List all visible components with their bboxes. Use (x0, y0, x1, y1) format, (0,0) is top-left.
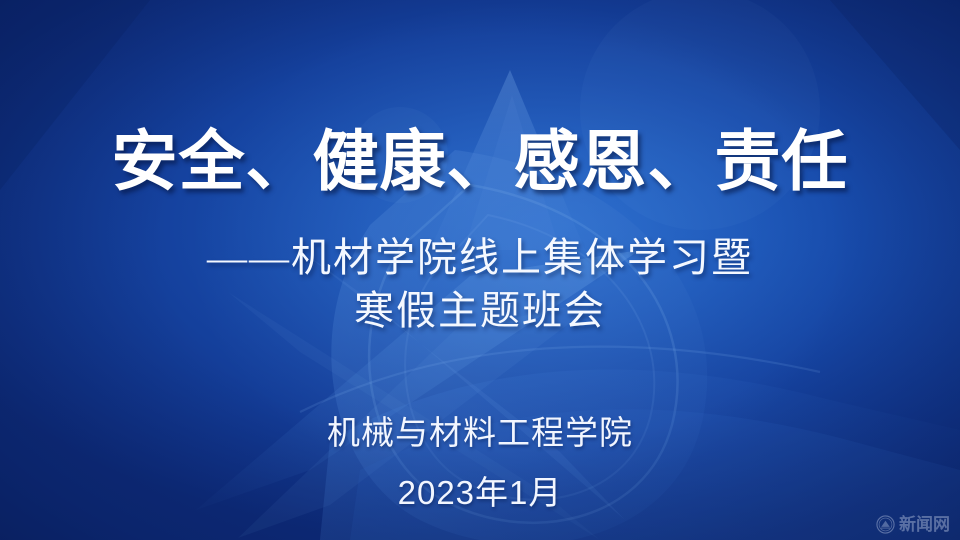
slide-subtitle-line-1: ——机材学院线上集体学习暨 (0, 232, 960, 285)
watermark: 新闻网 (876, 515, 950, 534)
slide-content: 安全、健康、感恩、责任 ——机材学院线上集体学习暨 寒假主题班会 机械与材料工程… (0, 0, 960, 540)
slide-date: 2023年1月 (0, 466, 960, 514)
slide-subtitle: ——机材学院线上集体学习暨 寒假主题班会 (0, 232, 960, 338)
circular-emblem-icon (876, 515, 895, 534)
slide-main-title: 安全、健康、感恩、责任 (0, 128, 960, 194)
presentation-slide: 安全、健康、感恩、责任 ——机材学院线上集体学习暨 寒假主题班会 机械与材料工程… (0, 0, 960, 540)
slide-subtitle-line-2: 寒假主题班会 (0, 285, 960, 338)
watermark-label: 新闻网 (899, 516, 950, 533)
slide-organization: 机械与材料工程学院 (0, 406, 960, 454)
